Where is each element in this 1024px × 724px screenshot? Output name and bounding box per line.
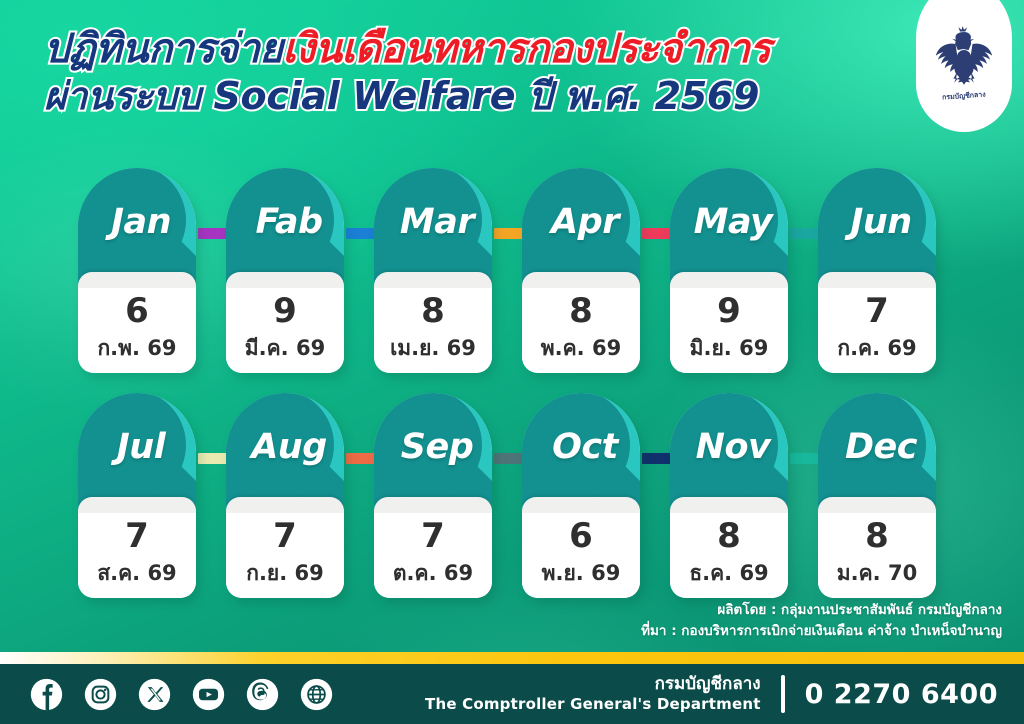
emblem-panel: กรมบัญชีกลาง xyxy=(916,0,1012,132)
card-header: Apr xyxy=(522,168,640,286)
card-body: 6ก.พ. 69 xyxy=(78,288,196,373)
garuda-emblem-icon: กรมบัญชีกลาง xyxy=(927,20,1001,108)
card-day-number: 8 xyxy=(717,519,741,553)
threads-icon[interactable] xyxy=(246,678,279,711)
month-card[interactable]: Jan6ก.พ. 69 xyxy=(78,168,196,373)
card-day-number: 7 xyxy=(125,519,149,553)
month-card[interactable]: Jul7ส.ค. 69 xyxy=(78,393,196,598)
card-thai-date: มี.ค. 69 xyxy=(245,332,325,365)
card-day-number: 8 xyxy=(569,294,593,328)
card-month-label: Sep xyxy=(374,393,492,511)
credits: ผลิตโดย : กลุ่มงานประชาสัมพันธ์ กรมบัญชี… xyxy=(641,600,1002,642)
card-inner: Aug7ก.ย. 69 xyxy=(226,393,344,598)
card-thai-date: ก.ค. 69 xyxy=(837,332,916,365)
department-name-en: The Comptroller General's Department xyxy=(425,696,761,713)
calendar-row-2: Jul7ส.ค. 69Aug7ก.ย. 69Sep7ต.ค. 69Oct6พ.ย… xyxy=(0,385,1024,605)
title-part-navy: ปฏิทินการจ่าย xyxy=(44,26,282,72)
card-day-number: 7 xyxy=(421,519,445,553)
month-card[interactable]: Apr8พ.ค. 69 xyxy=(522,168,640,373)
card-header: Aug xyxy=(226,393,344,511)
month-card[interactable]: Oct6พ.ย. 69 xyxy=(522,393,640,598)
month-card[interactable]: Sep7ต.ค. 69 xyxy=(374,393,492,598)
card-day-number: 7 xyxy=(273,519,297,553)
card-inner: Dec8ม.ค. 70 xyxy=(818,393,936,598)
facebook-icon[interactable] xyxy=(30,678,63,711)
card-body: 8ม.ค. 70 xyxy=(818,513,936,598)
calendar-row-1: Jan6ก.พ. 69Fab9มี.ค. 69Mar8เม.ย. 69Apr8พ… xyxy=(0,160,1024,380)
card-body: 7ก.ค. 69 xyxy=(818,288,936,373)
card-month-label: Aug xyxy=(226,393,344,511)
poster-root: ปฏิทินการจ่ายเงินเดือนทหารกองประจำการ ผ่… xyxy=(0,0,1024,724)
page-title: ปฏิทินการจ่ายเงินเดือนทหารกองประจำการ ผ่… xyxy=(44,28,924,117)
footer-divider xyxy=(781,675,785,713)
gold-divider xyxy=(0,652,1024,664)
website-globe-icon[interactable] xyxy=(300,678,333,711)
department-name: กรมบัญชีกลาง The Comptroller General's D… xyxy=(425,675,761,713)
card-header: Jul xyxy=(78,393,196,511)
title-line-2: ผ่านระบบ Social Welfare ปี พ.ศ. 2569 xyxy=(44,76,924,116)
card-month-label: Fab xyxy=(226,168,344,286)
month-card[interactable]: Jun7ก.ค. 69 xyxy=(818,168,936,373)
card-body: 7ส.ค. 69 xyxy=(78,513,196,598)
card-day-number: 9 xyxy=(273,294,297,328)
card-inner: Apr8พ.ค. 69 xyxy=(522,168,640,373)
card-inner: Oct6พ.ย. 69 xyxy=(522,393,640,598)
month-card[interactable]: May9มิ.ย. 69 xyxy=(670,168,788,373)
card-header: Fab xyxy=(226,168,344,286)
card-body: 8เม.ย. 69 xyxy=(374,288,492,373)
card-body: 7ต.ค. 69 xyxy=(374,513,492,598)
card-header: Dec xyxy=(818,393,936,511)
card-thai-date: ธ.ค. 69 xyxy=(689,557,768,590)
card-inner: Jul7ส.ค. 69 xyxy=(78,393,196,598)
card-header: Sep xyxy=(374,393,492,511)
card-body: 7ก.ย. 69 xyxy=(226,513,344,598)
card-thai-date: พ.ค. 69 xyxy=(541,332,621,365)
card-header: Nov xyxy=(670,393,788,511)
card-body: 8พ.ค. 69 xyxy=(522,288,640,373)
month-card[interactable]: Fab9มี.ค. 69 xyxy=(226,168,344,373)
card-thai-date: ก.พ. 69 xyxy=(97,332,176,365)
social-links xyxy=(30,678,333,711)
card-month-label: May xyxy=(670,168,788,286)
card-inner: Fab9มี.ค. 69 xyxy=(226,168,344,373)
footer-department-block: กรมบัญชีกลาง The Comptroller General's D… xyxy=(425,675,998,713)
card-month-label: Apr xyxy=(522,168,640,286)
emblem-caption: กรมบัญชีกลาง xyxy=(942,90,987,101)
card-header: May xyxy=(670,168,788,286)
credit-line-producer: ผลิตโดย : กลุ่มงานประชาสัมพันธ์ กรมบัญชี… xyxy=(641,600,1002,621)
card-inner: Sep7ต.ค. 69 xyxy=(374,393,492,598)
card-thai-date: มิ.ย. 69 xyxy=(690,332,769,365)
card-day-number: 6 xyxy=(569,519,593,553)
card-header: Jan xyxy=(78,168,196,286)
card-day-number: 8 xyxy=(865,519,889,553)
month-card[interactable]: Mar8เม.ย. 69 xyxy=(374,168,492,373)
credit-line-source: ที่มา : กองบริหารการเบิกจ่ายเงินเดือน ค่… xyxy=(641,621,1002,642)
department-name-th: กรมบัญชีกลาง xyxy=(425,675,761,695)
card-month-label: Mar xyxy=(374,168,492,286)
card-month-label: Nov xyxy=(670,393,788,511)
card-body: 9มิ.ย. 69 xyxy=(670,288,788,373)
month-card[interactable]: Aug7ก.ย. 69 xyxy=(226,393,344,598)
card-inner: Jun7ก.ค. 69 xyxy=(818,168,936,373)
month-card[interactable]: Dec8ม.ค. 70 xyxy=(818,393,936,598)
title-part-red: เงินเดือนทหารกองประจำการ xyxy=(282,26,770,72)
card-body: 9มี.ค. 69 xyxy=(226,288,344,373)
card-day-number: 7 xyxy=(865,294,889,328)
card-month-label: Jun xyxy=(818,168,936,286)
card-header: Mar xyxy=(374,168,492,286)
card-thai-date: พ.ย. 69 xyxy=(542,557,621,590)
youtube-icon[interactable] xyxy=(192,678,225,711)
x-twitter-icon[interactable] xyxy=(138,678,171,711)
calendar-grid: Jan6ก.พ. 69Fab9มี.ค. 69Mar8เม.ย. 69Apr8พ… xyxy=(0,160,1024,600)
card-thai-date: เม.ย. 69 xyxy=(390,332,476,365)
card-day-number: 6 xyxy=(125,294,149,328)
card-body: 6พ.ย. 69 xyxy=(522,513,640,598)
card-inner: Jan6ก.พ. 69 xyxy=(78,168,196,373)
card-thai-date: ต.ค. 69 xyxy=(393,557,473,590)
card-month-label: Dec xyxy=(818,393,936,511)
contact-phone[interactable]: 0 2270 6400 xyxy=(805,679,998,710)
card-body: 8ธ.ค. 69 xyxy=(670,513,788,598)
card-header: Jun xyxy=(818,168,936,286)
card-month-label: Jul xyxy=(78,393,196,511)
month-card[interactable]: Nov8ธ.ค. 69 xyxy=(670,393,788,598)
card-month-label: Jan xyxy=(78,168,196,286)
card-thai-date: ส.ค. 69 xyxy=(97,557,176,590)
footer: กรมบัญชีกลาง The Comptroller General's D… xyxy=(0,664,1024,724)
header: ปฏิทินการจ่ายเงินเดือนทหารกองประจำการ ผ่… xyxy=(0,0,1024,160)
card-day-number: 8 xyxy=(421,294,445,328)
card-inner: May9มิ.ย. 69 xyxy=(670,168,788,373)
card-inner: Nov8ธ.ค. 69 xyxy=(670,393,788,598)
card-inner: Mar8เม.ย. 69 xyxy=(374,168,492,373)
card-thai-date: ม.ค. 70 xyxy=(837,557,917,590)
card-month-label: Oct xyxy=(522,393,640,511)
title-line-1: ปฏิทินการจ่ายเงินเดือนทหารกองประจำการ xyxy=(44,28,924,70)
card-day-number: 9 xyxy=(717,294,741,328)
instagram-icon[interactable] xyxy=(84,678,117,711)
card-thai-date: ก.ย. 69 xyxy=(246,557,324,590)
card-header: Oct xyxy=(522,393,640,511)
